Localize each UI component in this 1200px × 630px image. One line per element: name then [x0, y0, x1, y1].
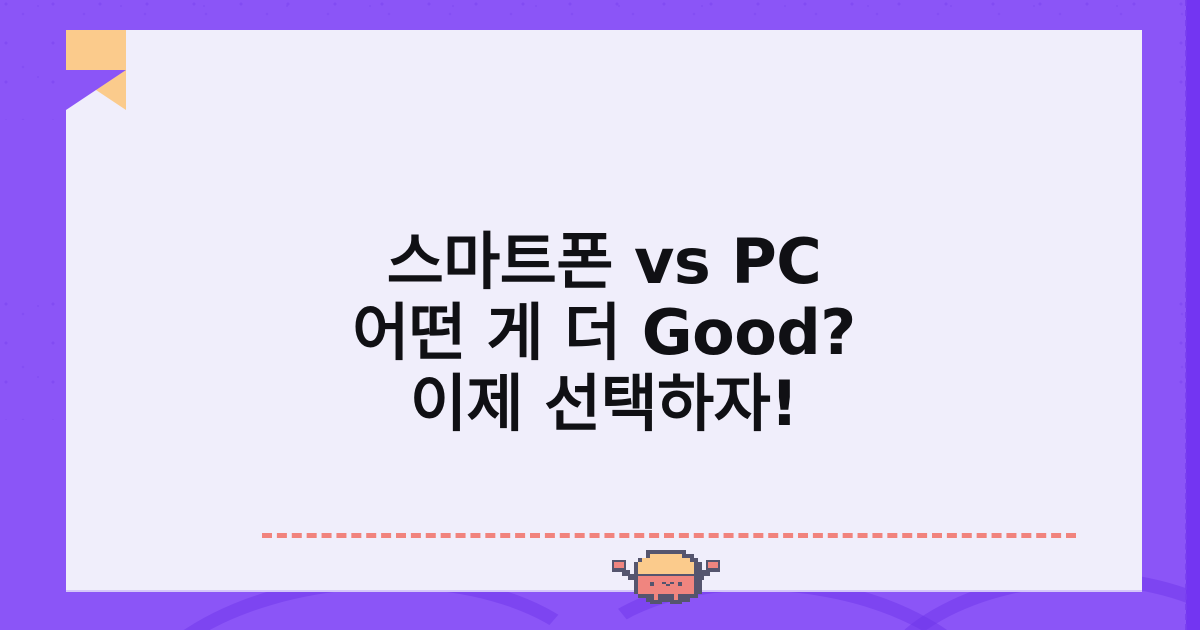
right-edge-dashed-rule	[1185, 0, 1187, 630]
pixel-robot-icon	[602, 546, 730, 608]
page-title: 스마트폰 vs PC 어떤 게 더 Good? 이제 선택하자!	[66, 226, 1142, 439]
page-fold-cut	[66, 70, 126, 110]
page-title-line-1: 스마트폰 vs PC	[66, 226, 1142, 297]
page-title-line-2: 어떤 게 더 Good?	[66, 297, 1142, 368]
right-edge-band	[1186, 0, 1200, 630]
page-title-line-3: 이제 선택하자!	[66, 368, 1142, 439]
poster-canvas: 스마트폰 vs PC 어떤 게 더 Good? 이제 선택하자!	[0, 0, 1200, 630]
content-card: 스마트폰 vs PC 어떤 게 더 Good? 이제 선택하자!	[66, 30, 1142, 590]
page-fold-triangle-icon	[66, 30, 126, 110]
dashed-divider	[262, 533, 1076, 538]
